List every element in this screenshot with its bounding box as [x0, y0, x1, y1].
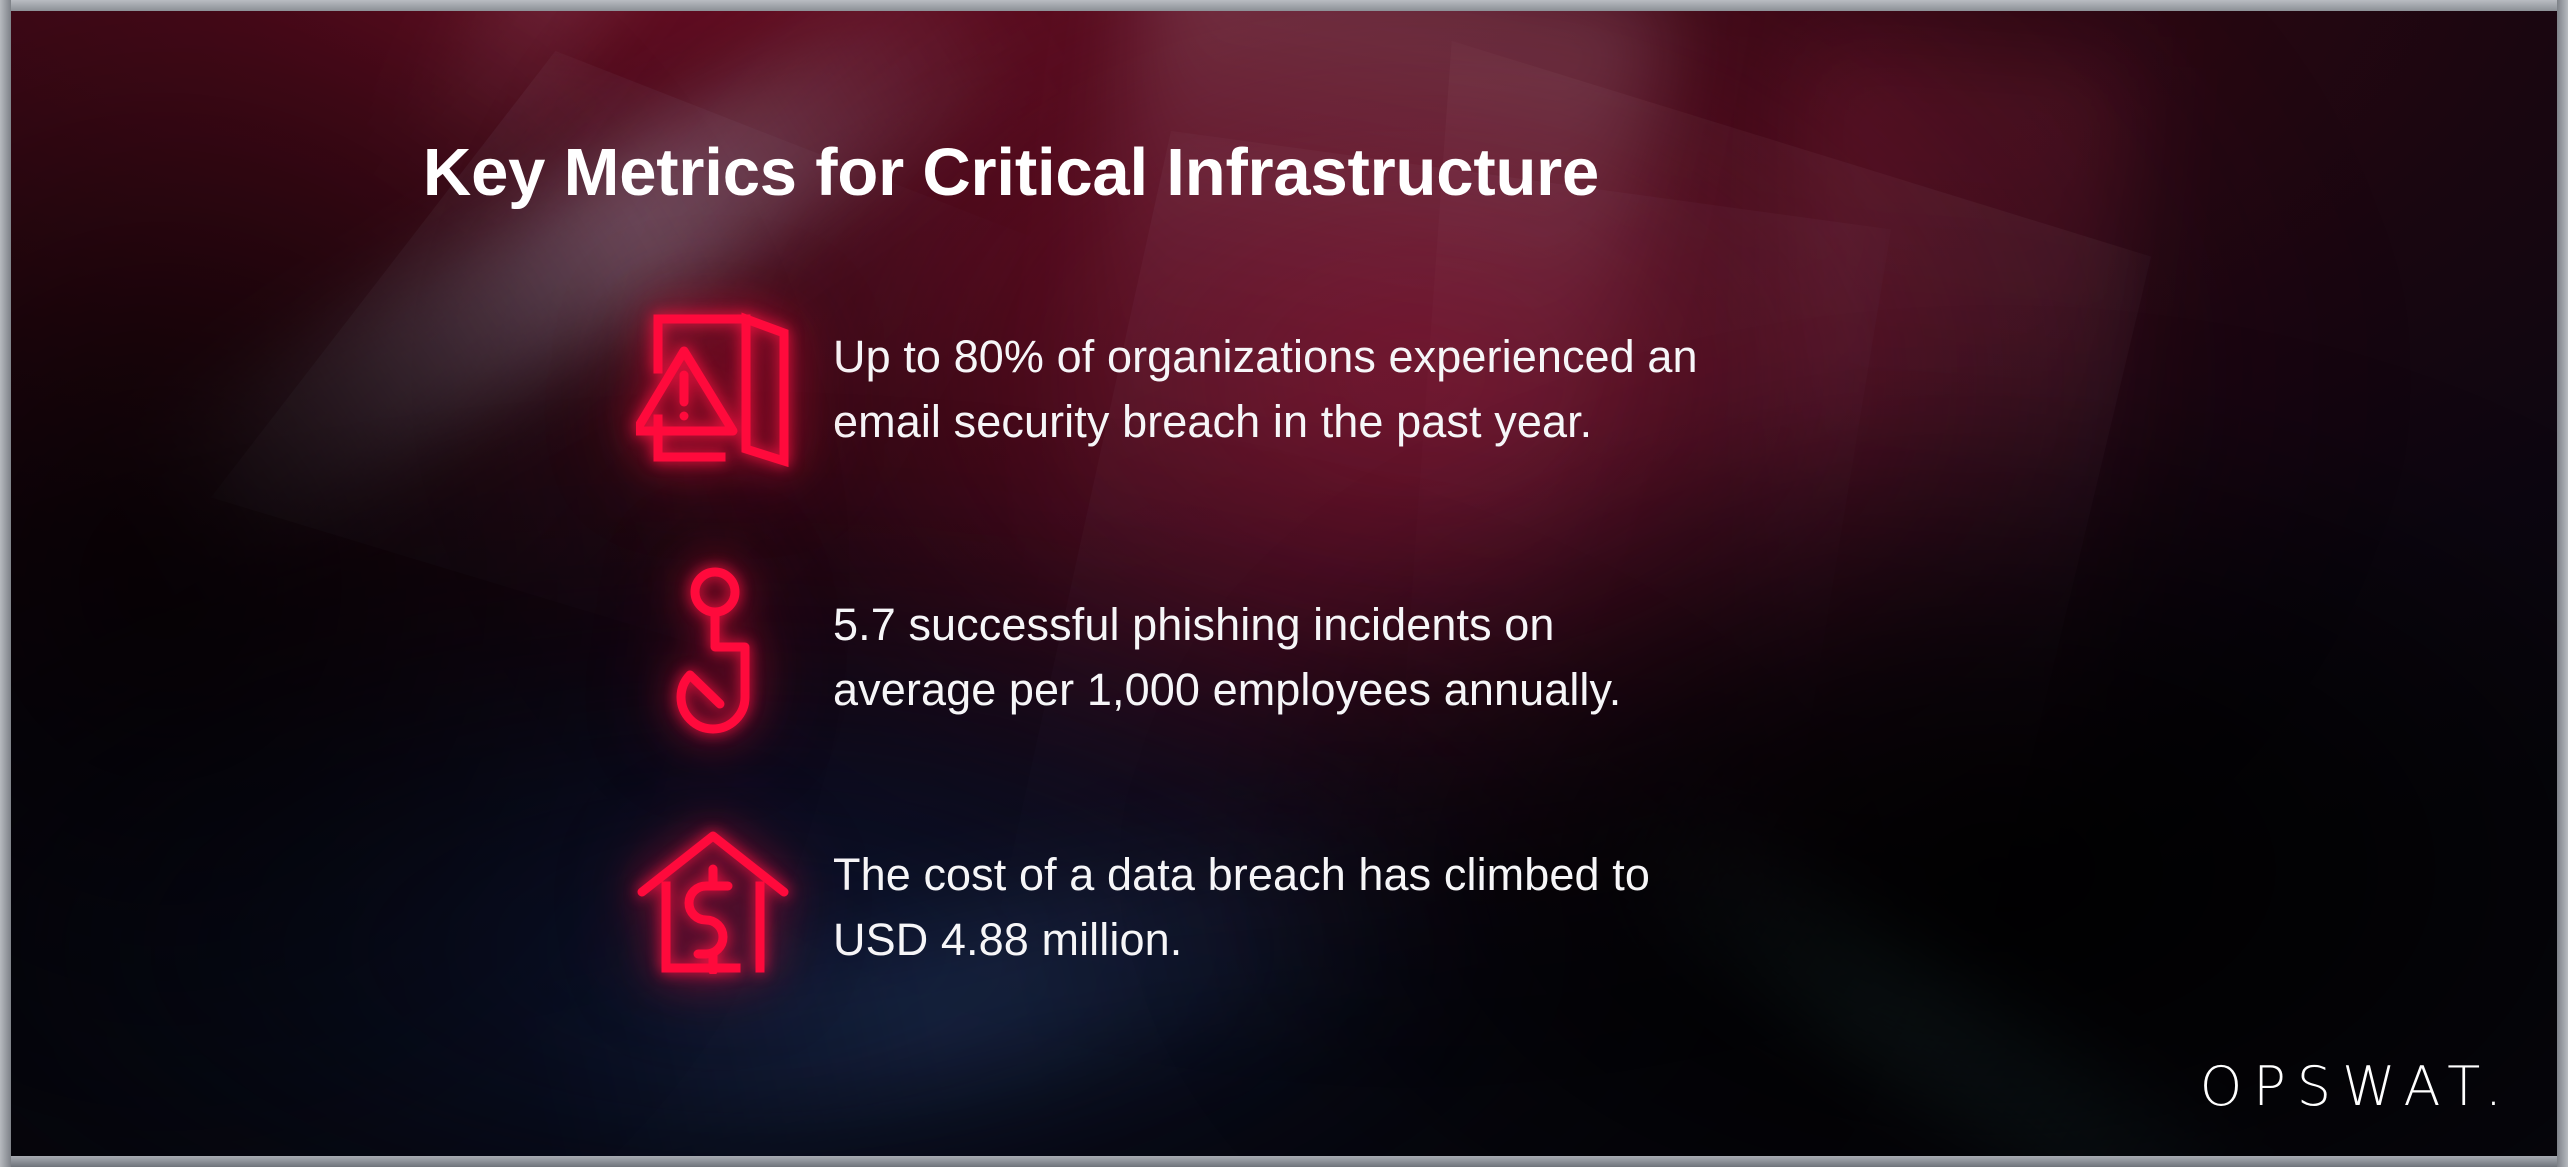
frame-border-top: [0, 0, 2568, 11]
frame-border-bottom: [0, 1156, 2568, 1167]
frame-border-left: [0, 0, 11, 1167]
metric-item: 5.7 successful phishing incidents on ave…: [611, 553, 2111, 805]
metric-line-1: Up to 80% of organizations experienced a…: [833, 325, 2111, 390]
frame-border-right: [2557, 0, 2568, 1167]
metric-line-1: The cost of a data breach has climbed to: [833, 843, 2111, 908]
metric-text: Up to 80% of organizations experienced a…: [816, 301, 2111, 455]
metric-line-1: 5.7 successful phishing incidents on: [833, 593, 2111, 658]
metric-line-2: USD 4.88 million.: [833, 908, 2111, 973]
house-dollar-cost-icon: [611, 805, 816, 974]
page-title: Key Metrics for Critical Infrastructure: [11, 139, 2011, 206]
metrics-list: Up to 80% of organizations experienced a…: [611, 301, 2111, 1057]
card-content: Key Metrics for Critical Infrastructure: [11, 11, 2557, 1156]
fish-hook-phishing-icon: [611, 553, 816, 743]
metric-item: Up to 80% of organizations experienced a…: [611, 301, 2111, 553]
metric-text: The cost of a data breach has climbed to…: [816, 805, 2111, 973]
metric-text: 5.7 successful phishing incidents on ave…: [816, 553, 2111, 723]
metric-item: The cost of a data breach has climbed to…: [611, 805, 2111, 1057]
open-door-alert-icon: [611, 301, 816, 467]
opswat-logo: OPSWAT.: [2200, 1060, 2513, 1114]
infographic-card: Key Metrics for Critical Infrastructure: [0, 0, 2568, 1167]
metric-line-2: average per 1,000 employees annually.: [833, 658, 2111, 723]
metric-line-2: email security breach in the past year.: [833, 390, 2111, 455]
